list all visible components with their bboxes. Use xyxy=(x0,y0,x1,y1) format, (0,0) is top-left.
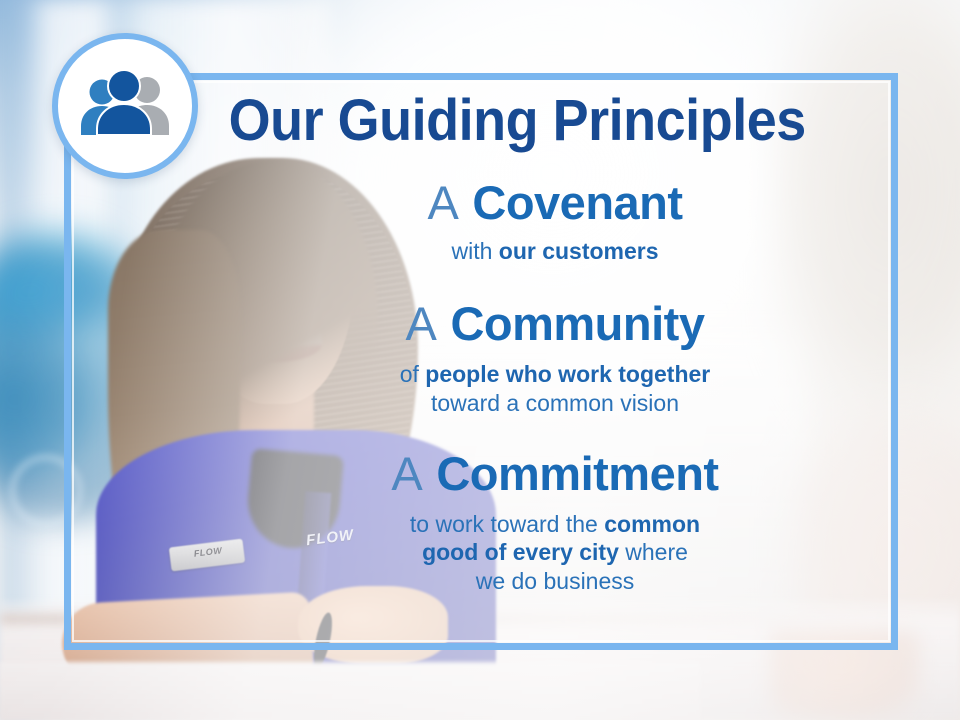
principles-list: A Covenant with our customers A Communit… xyxy=(230,178,880,599)
principle-heading: A Community xyxy=(230,299,880,350)
poster-canvas: FLOW FLOW Our Guiding Principles xyxy=(0,0,960,720)
principle-keyword: Commitment xyxy=(436,447,718,500)
detail-span-bold: good of every city xyxy=(422,539,619,565)
detail-span: where xyxy=(619,539,688,565)
principle-detail-line: good of every city where xyxy=(230,538,880,567)
detail-span: to work toward the xyxy=(410,511,604,537)
principle-detail: with our customers xyxy=(230,237,880,266)
principle-detail-line: toward a common vision xyxy=(230,389,880,418)
principle-article: A xyxy=(391,447,423,500)
principle-keyword: Covenant xyxy=(472,176,682,229)
principle-article: A xyxy=(406,297,438,350)
principle-keyword: Community xyxy=(450,297,704,350)
detail-span-bold: common xyxy=(604,511,700,537)
principle-detail-line: of people who work together xyxy=(230,360,880,389)
principle-detail-line: with our customers xyxy=(230,237,880,266)
detail-span-bold: people who work together xyxy=(425,361,710,387)
detail-span: with xyxy=(451,238,498,264)
principle-heading: A Covenant xyxy=(230,178,880,229)
principle-heading: A Commitment xyxy=(230,449,880,500)
principle-community: A Community of people who work together … xyxy=(230,299,880,417)
principle-detail: of people who work together toward a com… xyxy=(230,360,880,417)
principle-detail: to work toward the common good of every … xyxy=(230,510,880,596)
principle-detail-line: to work toward the common xyxy=(230,510,880,539)
principle-detail-line: we do business xyxy=(230,567,880,596)
detail-span-bold: our customers xyxy=(499,238,659,264)
detail-span: we do business xyxy=(476,568,635,594)
detail-span: of xyxy=(400,361,426,387)
principle-covenant: A Covenant with our customers xyxy=(230,178,880,265)
principle-article: A xyxy=(427,176,459,229)
page-title: Our Guiding Principles xyxy=(34,92,927,150)
detail-span: toward a common vision xyxy=(431,390,679,416)
principle-commitment: A Commitment to work toward the common g… xyxy=(230,449,880,595)
